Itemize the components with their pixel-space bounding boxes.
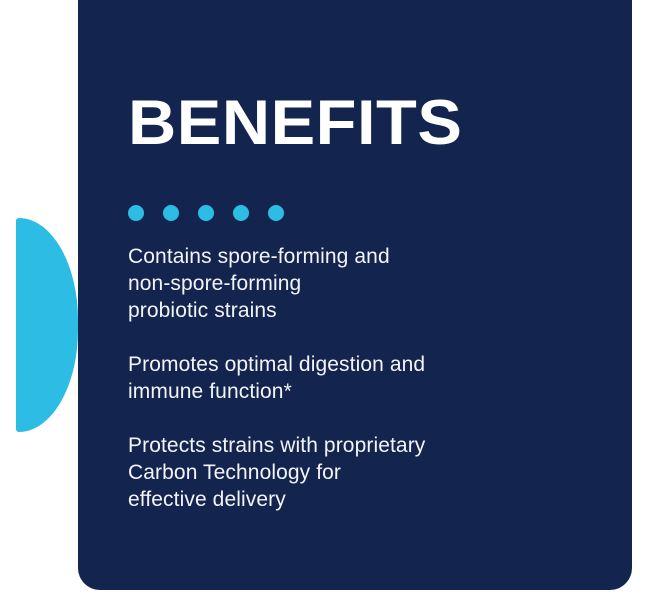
divider-dot-icon	[163, 205, 179, 221]
divider-dot-icon	[198, 205, 214, 221]
benefits-list: Contains spore-forming and non-spore-for…	[128, 243, 598, 513]
benefit-item: Contains spore-forming and non-spore-for…	[128, 243, 598, 324]
benefit-item: Promotes optimal digestion and immune fu…	[128, 351, 598, 405]
page-title: BENEFITS	[128, 92, 462, 155]
divider-dot-icon	[268, 205, 284, 221]
benefits-panel-stage: BENEFITS Contains spore-forming and non-…	[0, 0, 658, 597]
benefits-card-content: BENEFITS Contains spore-forming and non-…	[128, 0, 632, 590]
cyan-accent-shape	[16, 218, 78, 432]
divider-dot-icon	[128, 205, 144, 221]
dot-divider	[128, 205, 284, 221]
benefits-card: BENEFITS Contains spore-forming and non-…	[78, 0, 632, 590]
divider-dot-icon	[233, 205, 249, 221]
benefit-item: Protects strains with proprietary Carbon…	[128, 432, 598, 513]
